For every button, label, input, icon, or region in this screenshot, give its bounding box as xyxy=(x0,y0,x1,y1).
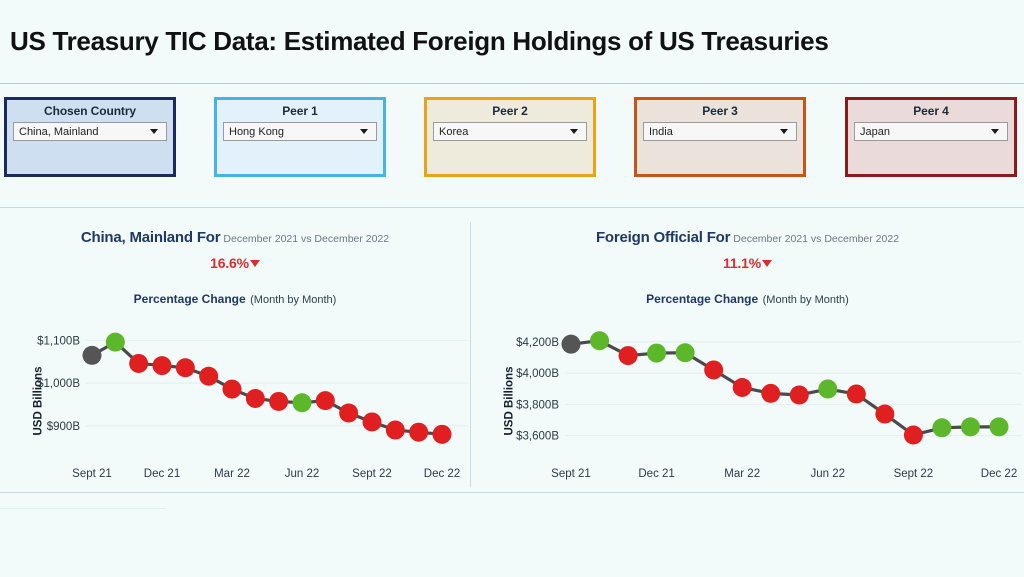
data-point-marker[interactable] xyxy=(761,384,780,403)
charts-area: China, Mainland ForDecember 2021 vs Dece… xyxy=(0,207,1024,493)
dropdown-peer-3[interactable]: India xyxy=(643,122,797,141)
data-point-marker[interactable] xyxy=(818,380,837,399)
x-axis-tick: Mar 22 xyxy=(214,468,250,480)
panel-subhead-left: Percentage Change (Month by Month) xyxy=(0,290,470,308)
chevron-down-icon xyxy=(150,129,158,134)
subhead-normal-left: (Month by Month) xyxy=(250,294,336,306)
data-point-marker[interactable] xyxy=(129,354,148,373)
dropdown-value-peer-1: Hong Kong xyxy=(224,126,360,138)
chevron-down-icon xyxy=(780,129,788,134)
panel-comparison-left: December 2021 vs December 2022 xyxy=(223,233,389,245)
data-point-marker[interactable] xyxy=(409,423,428,442)
title-band: US Treasury TIC Data: Estimated Foreign … xyxy=(0,0,1024,84)
panel-title-line-right: Foreign Official ForDecember 2021 vs Dec… xyxy=(471,229,1024,247)
panel-header-left: China, Mainland ForDecember 2021 vs Dece… xyxy=(0,208,470,308)
data-point-marker[interactable] xyxy=(562,335,581,354)
plot-wrapper-left: USD Billions $900B$1,000B$1,100BSept 21D… xyxy=(0,318,470,483)
dropdown-value-peer-2: Korea xyxy=(434,126,570,138)
selector-card-peer-2: Peer 2 Korea xyxy=(424,97,596,177)
data-point-marker[interactable] xyxy=(619,346,638,365)
data-point-marker[interactable] xyxy=(590,331,609,350)
subhead-bold-right: Percentage Change xyxy=(646,292,758,306)
dropdown-value-peer-3: India xyxy=(644,126,780,138)
panel-percent-change-left: 16.6% xyxy=(0,255,470,271)
x-axis-tick: Jun 22 xyxy=(811,468,846,480)
data-point-marker[interactable] xyxy=(932,418,951,437)
x-axis-tick: Dec 21 xyxy=(144,468,180,480)
x-axis-tick: Sept 22 xyxy=(352,468,392,480)
data-point-marker[interactable] xyxy=(433,425,452,444)
data-point-marker[interactable] xyxy=(293,393,312,412)
data-point-marker[interactable] xyxy=(676,343,695,362)
dropdown-peer-4[interactable]: Japan xyxy=(854,122,1008,141)
data-point-marker[interactable] xyxy=(316,391,335,410)
x-axis-tick: Dec 22 xyxy=(981,468,1017,480)
dropdown-value-chosen-country: China, Mainland xyxy=(14,126,150,138)
dropdown-value-peer-4: Japan xyxy=(855,126,991,138)
selector-card-peer-1: Peer 1 Hong Kong xyxy=(214,97,386,177)
panel-title-left: China, Mainland For xyxy=(81,229,221,246)
data-point-marker[interactable] xyxy=(847,385,866,404)
arrow-down-icon xyxy=(250,260,260,267)
data-point-marker[interactable] xyxy=(704,360,723,379)
data-point-marker[interactable] xyxy=(386,421,405,440)
selector-label-chosen-country: Chosen Country xyxy=(7,100,173,118)
selector-row: Chosen Country China, Mainland Peer 1 Ho… xyxy=(0,90,1024,190)
dropdown-peer-2[interactable]: Korea xyxy=(433,122,587,141)
selector-card-peer-3: Peer 3 India xyxy=(634,97,806,177)
chart-panel-china-mainland: China, Mainland ForDecember 2021 vs Dece… xyxy=(0,208,470,494)
panel-header-right: Foreign Official ForDecember 2021 vs Dec… xyxy=(471,208,1024,308)
selector-card-chosen-country: Chosen Country China, Mainland xyxy=(4,97,176,177)
data-point-marker[interactable] xyxy=(904,425,923,444)
x-axis-tick: Sept 21 xyxy=(72,468,112,480)
data-point-marker[interactable] xyxy=(269,392,288,411)
panel-comparison-right: December 2021 vs December 2022 xyxy=(733,233,899,245)
percent-value-right: 11.1% xyxy=(723,255,761,271)
y-axis-tick: $1,000B xyxy=(37,378,80,390)
panel-subhead-right: Percentage Change (Month by Month) xyxy=(471,290,1024,308)
data-point-marker[interactable] xyxy=(199,367,218,386)
selector-label-peer-4: Peer 4 xyxy=(848,100,1014,118)
data-point-marker[interactable] xyxy=(176,358,195,377)
page-title: US Treasury TIC Data: Estimated Foreign … xyxy=(0,26,828,57)
selector-label-peer-3: Peer 3 xyxy=(637,100,803,118)
y-axis-tick: $3,800B xyxy=(516,399,559,411)
line-chart-foreign-official: $3,600B$3,800B$4,000B$4,200BSept 21Dec 2… xyxy=(471,318,1024,483)
data-point-marker[interactable] xyxy=(153,356,172,375)
x-axis-tick: Mar 22 xyxy=(724,468,760,480)
x-axis-tick: Sept 21 xyxy=(551,468,591,480)
data-point-marker[interactable] xyxy=(106,333,125,352)
y-axis-tick: $4,200B xyxy=(516,337,559,349)
x-axis-tick: Jun 22 xyxy=(285,468,320,480)
data-point-marker[interactable] xyxy=(647,344,666,363)
chevron-down-icon xyxy=(991,129,999,134)
selector-label-peer-2: Peer 2 xyxy=(427,100,593,118)
line-chart-china-mainland: $900B$1,000B$1,100BSept 21Dec 21Mar 22Ju… xyxy=(0,318,470,483)
y-axis-tick: $3,600B xyxy=(516,431,559,443)
data-point-marker[interactable] xyxy=(246,389,265,408)
subhead-bold-left: Percentage Change xyxy=(134,292,246,306)
data-point-marker[interactable] xyxy=(733,378,752,397)
data-point-marker[interactable] xyxy=(990,417,1009,436)
chart-panel-foreign-official: Foreign Official ForDecember 2021 vs Dec… xyxy=(471,208,1024,494)
panel-title-right: Foreign Official For xyxy=(596,229,730,246)
panel-title-line-left: China, Mainland ForDecember 2021 vs Dece… xyxy=(0,229,470,247)
dashboard-root: US Treasury TIC Data: Estimated Foreign … xyxy=(0,0,1024,577)
arrow-down-icon xyxy=(762,260,772,267)
x-axis-tick: Sept 22 xyxy=(894,468,934,480)
x-axis-tick: Dec 21 xyxy=(638,468,674,480)
y-axis-tick: $1,100B xyxy=(37,335,80,347)
chevron-down-icon xyxy=(360,129,368,134)
percent-value-left: 16.6% xyxy=(210,255,249,271)
dropdown-chosen-country[interactable]: China, Mainland xyxy=(13,122,167,141)
x-axis-tick: Dec 22 xyxy=(424,468,460,480)
dropdown-peer-1[interactable]: Hong Kong xyxy=(223,122,377,141)
selector-label-peer-1: Peer 1 xyxy=(217,100,383,118)
data-point-marker[interactable] xyxy=(363,412,382,431)
y-axis-tick: $4,000B xyxy=(516,368,559,380)
chevron-down-icon xyxy=(570,129,578,134)
data-point-marker[interactable] xyxy=(223,380,242,399)
data-point-marker[interactable] xyxy=(961,417,980,436)
subhead-normal-right: (Month by Month) xyxy=(763,294,849,306)
data-point-marker[interactable] xyxy=(339,403,358,422)
data-point-marker[interactable] xyxy=(790,385,809,404)
plot-wrapper-right: USD Billions $3,600B$3,800B$4,000B$4,200… xyxy=(471,318,1024,483)
data-point-marker[interactable] xyxy=(83,346,102,365)
selector-card-peer-4: Peer 4 Japan xyxy=(845,97,1017,177)
data-point-marker[interactable] xyxy=(875,405,894,424)
footer-divider xyxy=(0,508,165,509)
series-line xyxy=(92,342,442,434)
panel-percent-change-right: 11.1% xyxy=(471,255,1024,271)
y-axis-tick: $900B xyxy=(47,421,81,433)
